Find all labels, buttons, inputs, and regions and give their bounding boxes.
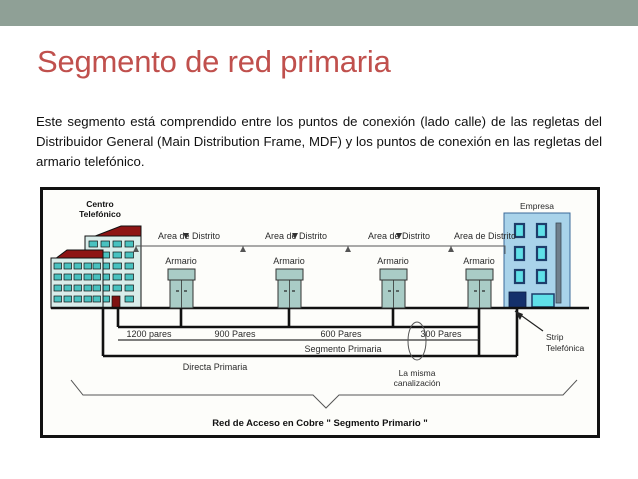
pair-segment-label-1: 1200 pares bbox=[126, 329, 172, 339]
strip-callout: Strip Telefónica bbox=[515, 311, 585, 353]
enterprise-building-group: Empresa bbox=[504, 201, 570, 308]
district-area-label-3: Area de Distrito bbox=[368, 231, 430, 241]
district-area-label-2: Area de Distrito bbox=[265, 231, 327, 241]
page-title: Segmento de red primaria bbox=[37, 46, 391, 77]
central-office-low-block bbox=[51, 250, 103, 308]
direct-primary-label: Directa Primaria bbox=[183, 362, 248, 372]
diagram-svg: Centro Telefónico bbox=[43, 190, 597, 435]
cabinet-label-4: Armario bbox=[463, 256, 495, 266]
cabinet-2: Armario bbox=[273, 256, 305, 308]
pair-segment-label-3: 600 Pares bbox=[320, 329, 362, 339]
central-office-group: Centro Telefónico bbox=[51, 199, 141, 308]
canalization-line1: La misma bbox=[399, 368, 436, 378]
diagram-caption: Red de Acceso en Cobre " Segmento Primar… bbox=[212, 418, 428, 429]
pair-segment-label-2: 900 Pares bbox=[214, 329, 256, 339]
district-area-brackets bbox=[133, 246, 505, 254]
strip-label-line1: Strip bbox=[546, 332, 564, 342]
canalization-line2: canalización bbox=[394, 378, 441, 388]
cabinet-label-1: Armario bbox=[165, 256, 197, 266]
caption-brace bbox=[71, 380, 577, 408]
body-paragraph: Este segmento está comprendido entre los… bbox=[36, 112, 602, 172]
pair-segment-label-4: 300 Pares bbox=[420, 329, 462, 339]
cabinet-label-2: Armario bbox=[273, 256, 305, 266]
district-area-label-4: Area de Distrito bbox=[454, 231, 516, 241]
strip-door bbox=[509, 292, 526, 308]
central-office-label-line2: Telefónico bbox=[79, 209, 121, 219]
top-accent-band bbox=[0, 0, 638, 26]
cabinet-1: Armario bbox=[165, 256, 197, 308]
segment-primary-label: Segmento Primaria bbox=[304, 344, 381, 354]
enterprise-label: Empresa bbox=[520, 201, 554, 211]
strip-label-line2: Telefónica bbox=[546, 343, 585, 353]
district-area-label-1: Area de Distrito bbox=[158, 231, 220, 241]
cabinet-3: Armario bbox=[377, 256, 409, 308]
slide-canvas: Segmento de red primaria Este segmento e… bbox=[0, 0, 638, 479]
central-office-label-line1: Centro bbox=[86, 199, 113, 209]
cabinet-4: Armario bbox=[463, 256, 495, 308]
network-diagram: Centro Telefónico bbox=[40, 187, 600, 438]
cabinet-label-3: Armario bbox=[377, 256, 409, 266]
